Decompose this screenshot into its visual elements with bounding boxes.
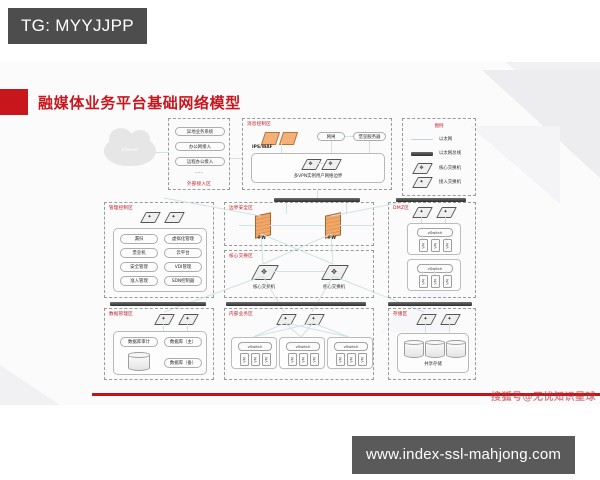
data-item-0[interactable]: 数据库审计 (120, 337, 158, 347)
zone-external-access: 异地业务系统 办公网接入 远程办公接入 ...... 外部接入区 (168, 118, 230, 190)
page-title: 融媒体业务平台基础网络模型 (38, 92, 241, 113)
ethernet-bus-icon (411, 152, 433, 156)
access-switch-icon: ✦ (415, 177, 428, 186)
mgmt-item-2[interactable]: 堡垒机 (120, 248, 158, 258)
url-watermark-badge: www.index-ssl-mahjong.com (352, 436, 575, 474)
access-switch-icon-data-2[interactable]: ✦ (181, 314, 194, 323)
shared-storage-box: 共享存储 (397, 333, 469, 373)
external-item-0[interactable]: 异地业务系统 (175, 127, 225, 136)
dmz-host-group-2: vSwitch VM VM VM (407, 259, 461, 291)
core-switch-icon: ✥ (415, 163, 428, 172)
access-switch-icon-mgmt-1[interactable]: ✦ (143, 212, 156, 221)
ips-waf-label: IPS/WAF (252, 145, 273, 150)
dmz-link-sw2-host (445, 216, 446, 223)
zone-label-storage: 存储区 (393, 311, 407, 317)
ethernet-bus-storage (388, 302, 472, 306)
legend-panel: 图例 以太网 以太网总线 ✥ 核心交换机 ✦ 接入交换机 (402, 118, 476, 196)
storage-disk-icon-1 (404, 340, 424, 358)
data-link-sw1 (163, 323, 164, 331)
access-switch-icon-storage-1[interactable]: ✦ (419, 314, 432, 323)
tg-watermark-badge: TG: MYYJJPP (8, 8, 147, 44)
dmz-vm-1-2[interactable]: VM (443, 239, 452, 252)
data-item-2[interactable]: 数据库（备） (164, 358, 202, 368)
zone-management-control: 管理控制区 ✦ ✦ 漏扫 虚拟化管理 堡垒机 云平台 安全管理 VDI管理 准入… (104, 202, 214, 298)
legend-title: 图例 (435, 123, 444, 129)
core-mesh-links (224, 202, 374, 298)
vpn-edge-label: 多VPN实例用户网络边界 (294, 173, 342, 179)
zone-label-management: 管理控制区 (109, 205, 133, 211)
database-cylinder-icon (128, 352, 150, 371)
dmz-vm-2-1[interactable]: VM (431, 275, 440, 288)
mgmt-item-7[interactable]: SDN控制器 (164, 276, 202, 286)
legend-label-3: 接入交换机 (439, 179, 461, 185)
zone-internal-business: 内部业务区 ✦ ✦ vSwitch VM VM VM vSwitch VM VM… (224, 308, 374, 380)
ethernet-line-icon (411, 139, 433, 140)
zone-label-data-management: 数据管理区 (109, 311, 133, 317)
mgmt-item-6[interactable]: 准入管理 (120, 276, 158, 286)
dmz-link-sw1-host (421, 216, 422, 223)
data-item-1[interactable]: 数据库（主） (164, 337, 202, 347)
storage-link-sw1 (425, 323, 426, 333)
gateway-node[interactable]: 网闸 (317, 132, 345, 141)
storage-disk-icon-2 (425, 340, 445, 358)
slide-title-row: 融媒体业务平台基础网络模型 (0, 89, 241, 115)
dmz-vm-1-1[interactable]: VM (431, 239, 440, 252)
link-gateway-to-vpnbox (331, 141, 332, 153)
internet-label: Internet (104, 147, 156, 152)
storage-link-sw2 (449, 323, 450, 333)
background-triangle-4 (0, 361, 66, 405)
legend-label-0: 以太网 (439, 136, 452, 142)
legend-label-2: 核心交换机 (439, 165, 461, 171)
storage-disk-icon-3 (446, 340, 466, 358)
mgmt-item-5[interactable]: VDI管理 (164, 262, 202, 272)
link-ips-to-vpnbox (281, 143, 282, 153)
title-accent-marker (0, 89, 28, 115)
slide-canvas: 融媒体业务平台基础网络模型 搜狐号@无忧知识星球 Internet 异地业务系统… (0, 62, 600, 405)
zone-label-info-control: 消息控制区 (247, 121, 271, 127)
access-switch-icon-dmz-2[interactable]: ✦ (439, 207, 452, 216)
dmz-vm-2-0[interactable]: VM (419, 275, 428, 288)
vpn-edge-box: ✥ ✥ 多VPN实例用户网络边界 (251, 153, 385, 183)
internet-cloud-icon: Internet (104, 136, 156, 166)
link-infocontrol-to-bus (317, 190, 318, 198)
access-switch-icon-data-1[interactable]: ✦ (157, 314, 170, 323)
link-gateway-bastion (345, 136, 353, 137)
legend-label-1: 以太网总线 (439, 150, 461, 156)
access-switch-icon-mgmt-2[interactable]: ✦ (167, 212, 180, 221)
management-tools-box: 漏扫 虚拟化管理 堡垒机 云平台 安全管理 VDI管理 准入管理 SDN控制器 (113, 228, 207, 292)
link-bastion-to-vpnbox (369, 141, 370, 153)
zone-label-external-access: 外部接入区 (187, 181, 211, 187)
zone-label-dmz: DMZ区 (393, 205, 409, 211)
ethernet-bus-data (110, 302, 206, 306)
source-watermark: 搜狐号@无忧知识星球 (491, 388, 596, 403)
mgmt-item-0[interactable]: 漏扫 (120, 234, 158, 244)
bastion-server-node[interactable]: 堡垒服务器 (353, 132, 386, 141)
background-triangle-1 (490, 62, 600, 145)
zone-data-management: 数据管理区 ✦ ✦ 数据库审计 数据库（主） 数据库（备） (104, 308, 214, 380)
zone-info-control: 消息控制区 IPS/WAF 网闸 堡垒服务器 ✥ ✥ 多VPN实例用户网络边界 (242, 118, 392, 190)
mgmt-item-3[interactable]: 云平台 (164, 248, 202, 258)
ips-device-icon[interactable] (261, 132, 280, 145)
mgmt-item-4[interactable]: 安全管理 (120, 262, 158, 272)
mgmt-item-1[interactable]: 虚拟化管理 (164, 234, 202, 244)
link-internet-external (156, 152, 168, 153)
zone-storage: 存储区 ✦ ✦ 共享存储 (388, 308, 476, 380)
core-switch-icon-vpn-2[interactable]: ✥ (324, 159, 337, 168)
ethernet-bus-internal (226, 302, 366, 306)
external-item-1[interactable]: 办公网接入 (175, 142, 225, 151)
external-item-3: ...... (195, 170, 203, 175)
link-external-info (230, 158, 242, 159)
shared-storage-label: 共享存储 (424, 361, 442, 367)
link-vpn-switches (317, 163, 324, 164)
core-switch-icon-vpn-1[interactable]: ✥ (304, 159, 317, 168)
data-link-sw2 (187, 323, 188, 331)
access-switch-icon-dmz-1[interactable]: ✦ (415, 207, 428, 216)
internal-mesh-links (225, 309, 375, 381)
database-box: 数据库审计 数据库（主） 数据库（备） (113, 331, 207, 375)
dmz-vm-1-0[interactable]: VM (419, 239, 428, 252)
dmz-host-group-1: vSwitch VM VM VM (407, 223, 461, 255)
zone-dmz: DMZ区 ✦ ✦ vSwitch VM VM VM vSwitch (388, 202, 476, 298)
dmz-vm-2-2[interactable]: VM (443, 275, 452, 288)
access-switch-icon-storage-2[interactable]: ✦ (443, 314, 456, 323)
external-item-2[interactable]: 远程办公接入 (175, 157, 225, 166)
network-diagram: Internet 异地业务系统 办公网接入 远程办公接入 ...... 外部接入… (96, 114, 506, 386)
